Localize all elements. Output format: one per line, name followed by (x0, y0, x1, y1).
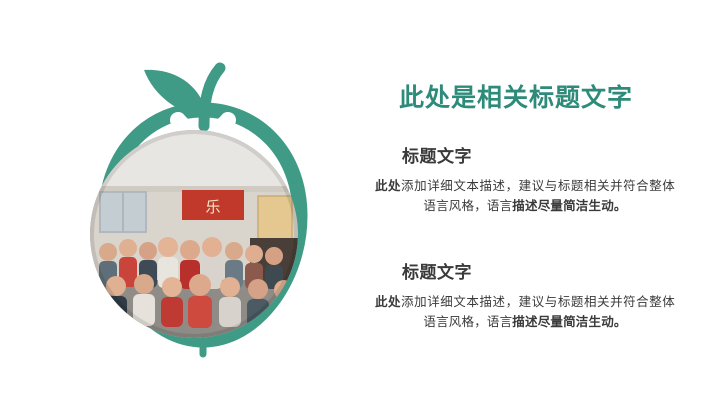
block-1-body-line-1: 添加详细文本描述，建议与标 (401, 179, 571, 193)
block-2-heading: 标题文字 (402, 258, 675, 283)
svg-text:乐: 乐 (205, 199, 220, 216)
block-2-body-bold-lead: 此处 (375, 295, 401, 309)
photo-circle: 乐 (90, 130, 298, 338)
block-1-heading: 标题文字 (402, 142, 675, 167)
apple-graphic: 乐 (58, 48, 348, 358)
block-2-body-bold-tail: 描述尽量简洁生动。 (512, 315, 626, 329)
content-block-2: 标题文字 此处添加详细文本描述，建议与标题相关并符合整体语言风格，语言描述尽量简… (375, 258, 675, 332)
block-2-body: 此处添加详细文本描述，建议与标题相关并符合整体语言风格，语言描述尽量简洁生动。 (375, 292, 675, 332)
block-1-body-bold-tail: 描述尽量简洁生动。 (512, 199, 626, 213)
block-2-body-line-1: 添加详细文本描述，建议与标 (401, 295, 571, 309)
slide-title: 此处是相关标题文字 (399, 78, 633, 114)
group-photo-image: 乐 (90, 130, 298, 338)
block-1-body-bold-lead: 此处 (375, 179, 401, 193)
slide-canvas: 乐 (0, 0, 721, 405)
block-1-body: 此处添加详细文本描述，建议与标题相关并符合整体语言风格，语言描述尽量简洁生动。 (375, 176, 675, 216)
content-block-1: 标题文字 此处添加详细文本描述，建议与标题相关并符合整体语言风格，语言描述尽量简… (375, 142, 675, 216)
